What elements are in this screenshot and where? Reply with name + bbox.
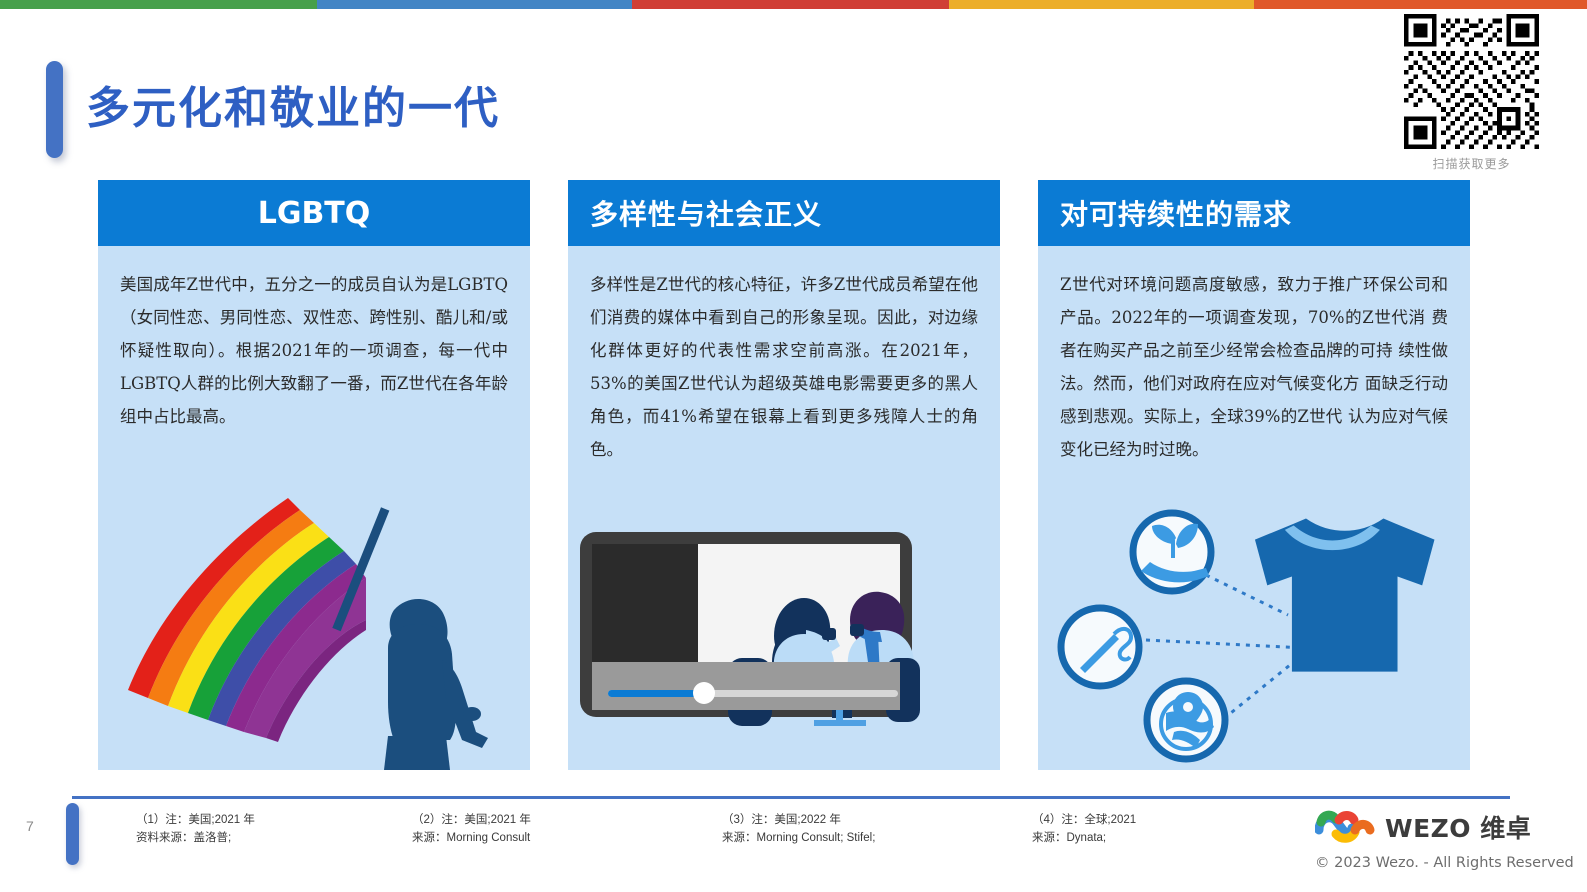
wezo-logo-icon — [1315, 808, 1377, 846]
footnote-1: （1）注：美国;2021 年 资料来源：盖洛普; — [136, 812, 255, 848]
video-player-illustration — [568, 470, 1000, 770]
card-header-sustainability: 对可持续性的需求 — [1038, 180, 1470, 246]
card-header-lgbtq: LGBTQ — [98, 180, 530, 246]
footnote-4: （4）注：全球;2021 来源：Dynata; — [1032, 812, 1136, 848]
qr-code-icon — [1404, 14, 1539, 149]
title-accent-bar — [46, 61, 63, 158]
top-bar-segment-green — [0, 0, 317, 9]
top-bar-segment-orange — [1254, 0, 1587, 9]
cards-row: LGBTQ 美国成年Z世代中，五分之一的成员自认为是LGBTQ（女同性恋、男同性… — [0, 180, 1587, 770]
needle-thread-icon — [1061, 608, 1139, 686]
globe-location-icon — [1147, 681, 1225, 759]
top-bar-segment-yellow — [949, 0, 1254, 9]
footer-divider — [72, 796, 1510, 799]
footnote-2-line1: （2）注：美国;2021 年 — [412, 814, 531, 826]
page-title: 多元化和敬业的一代 — [86, 72, 500, 136]
top-bar-segment-red — [632, 0, 949, 9]
card-lgbtq[interactable]: LGBTQ 美国成年Z世代中，五分之一的成员自认为是LGBTQ（女同性恋、男同性… — [98, 180, 530, 770]
card-body-diversity: 多样性是Z世代的核心特征，许多Z世代成员希望在他们消费的媒体中看到自己的形象呈现… — [568, 246, 1000, 466]
footnotes: （1）注：美国;2021 年 资料来源：盖洛普; （2）注：美国;2021 年 … — [0, 812, 1300, 872]
footnote-3-line1: （3）注：美国;2022 年 — [722, 814, 841, 826]
card-diversity[interactable]: 多样性与社会正义 多样性是Z世代的核心特征，许多Z世代成员希望在他们消费的媒体中… — [568, 180, 1000, 770]
copyright-text: © 2023 Wezo. - All Rights Reserved — [1315, 855, 1555, 871]
top-color-bar — [0, 0, 1587, 9]
rainbow-flag-illustration — [98, 470, 530, 770]
card-title-lgbtq: LGBTQ — [258, 196, 371, 231]
brand-row: WEZO 维卓 — [1315, 808, 1555, 846]
qr-block: 扫描获取更多 — [1404, 14, 1539, 172]
footnote-2: （2）注：美国;2021 年 来源：Morning Consult — [412, 812, 531, 848]
brand-block: WEZO 维卓 © 2023 Wezo. - All Rights Reserv… — [1315, 808, 1555, 871]
plant-in-hand-icon — [1133, 513, 1211, 591]
card-title-sustainability: 对可持续性的需求 — [1060, 193, 1292, 233]
footnote-4-line2: 来源：Dynata; — [1032, 830, 1136, 848]
footnote-1-line1: （1）注：美国;2021 年 — [136, 814, 255, 826]
card-body-sustainability: Z世代对环境问题高度敏感，致力于推广环保公司和产品。2022年的一项调查发现，7… — [1038, 246, 1470, 466]
tshirt-shape — [1255, 518, 1435, 671]
footnote-4-line1: （4）注：全球;2021 — [1032, 814, 1136, 826]
tshirt-sustainability-illustration — [1038, 470, 1470, 770]
card-title-diversity: 多样性与社会正义 — [590, 193, 822, 233]
footnote-2-line2: 来源：Morning Consult — [412, 830, 531, 848]
card-header-diversity: 多样性与社会正义 — [568, 180, 1000, 246]
brand-name: WEZO 维卓 — [1385, 809, 1531, 845]
top-bar-segment-blue — [317, 0, 631, 9]
footnote-3: （3）注：美国;2022 年 来源：Morning Consult; Stife… — [722, 812, 875, 848]
slide-root: 多元化和敬业的一代 — [0, 0, 1587, 892]
footnote-3-line2: 来源：Morning Consult; Stifel; — [722, 830, 875, 848]
footnote-1-line2: 资料来源：盖洛普; — [136, 830, 255, 848]
card-sustainability[interactable]: 对可持续性的需求 Z世代对环境问题高度敏感，致力于推广环保公司和产品。2022年… — [1038, 180, 1470, 770]
card-body-lgbtq: 美国成年Z世代中，五分之一的成员自认为是LGBTQ（女同性恋、男同性恋、双性恋、… — [98, 246, 530, 433]
qr-caption: 扫描获取更多 — [1404, 155, 1539, 172]
